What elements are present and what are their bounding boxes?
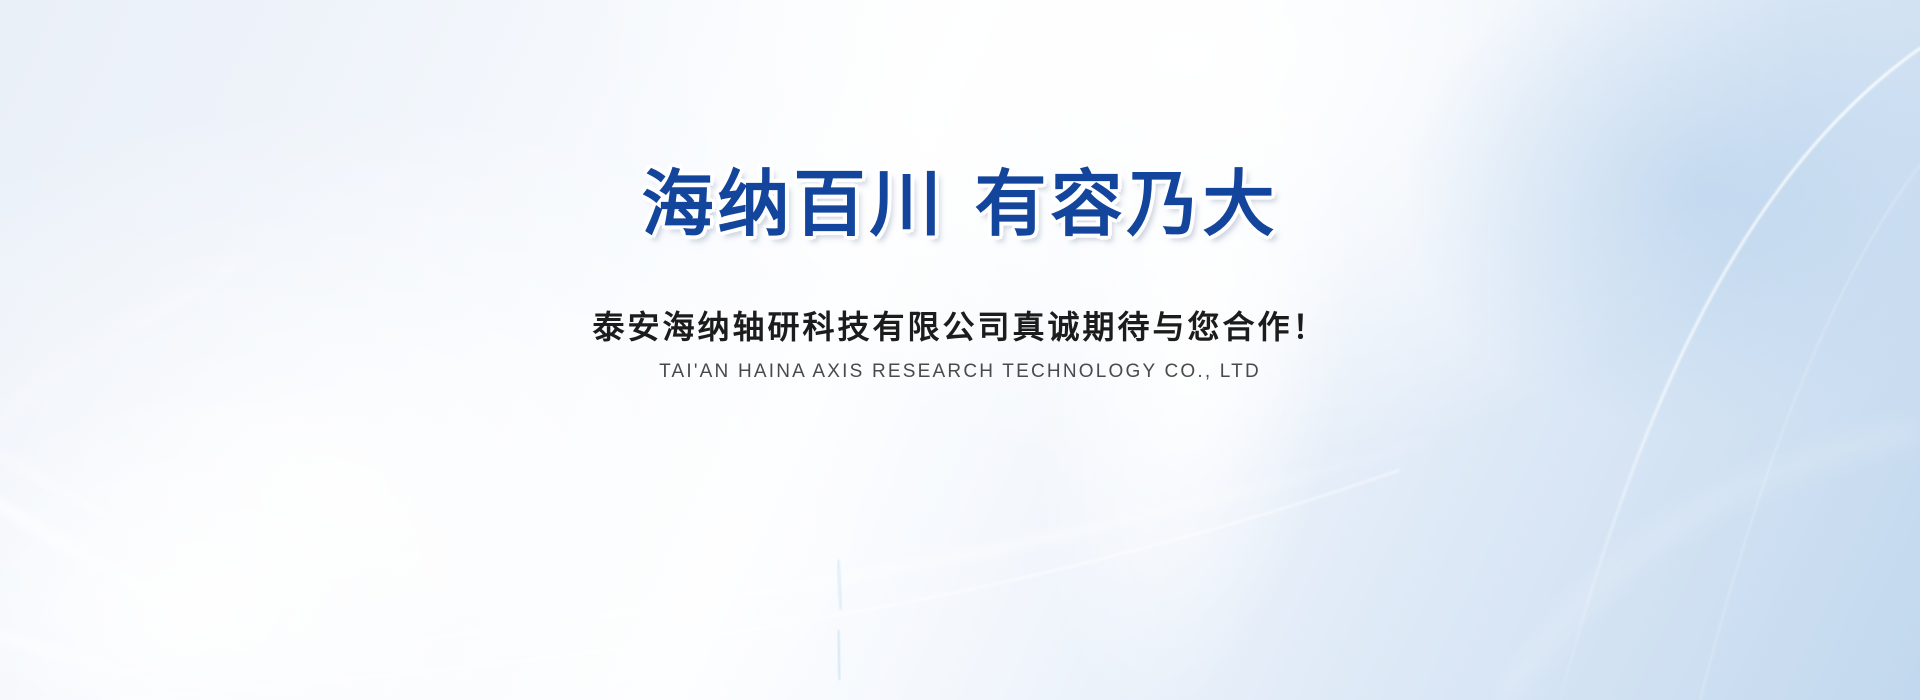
page-title: 海纳百川 有容乃大 (641, 168, 1278, 240)
banner-content: 海纳百川 有容乃大 泰安海纳轴研科技有限公司真诚期待与您合作！ TAI'AN H… (0, 0, 1920, 700)
hero-banner: 海纳百川 有容乃大 泰安海纳轴研科技有限公司真诚期待与您合作！ TAI'AN H… (0, 0, 1920, 700)
subtitle-group: 泰安海纳轴研科技有限公司真诚期待与您合作！ TAI'AN HAINA AXIS … (592, 302, 1327, 383)
subtitle-english: TAI'AN HAINA AXIS RESEARCH TECHNOLOGY CO… (659, 361, 1261, 383)
subtitle-chinese: 泰安海纳轴研科技有限公司真诚期待与您合作！ (592, 302, 1327, 348)
